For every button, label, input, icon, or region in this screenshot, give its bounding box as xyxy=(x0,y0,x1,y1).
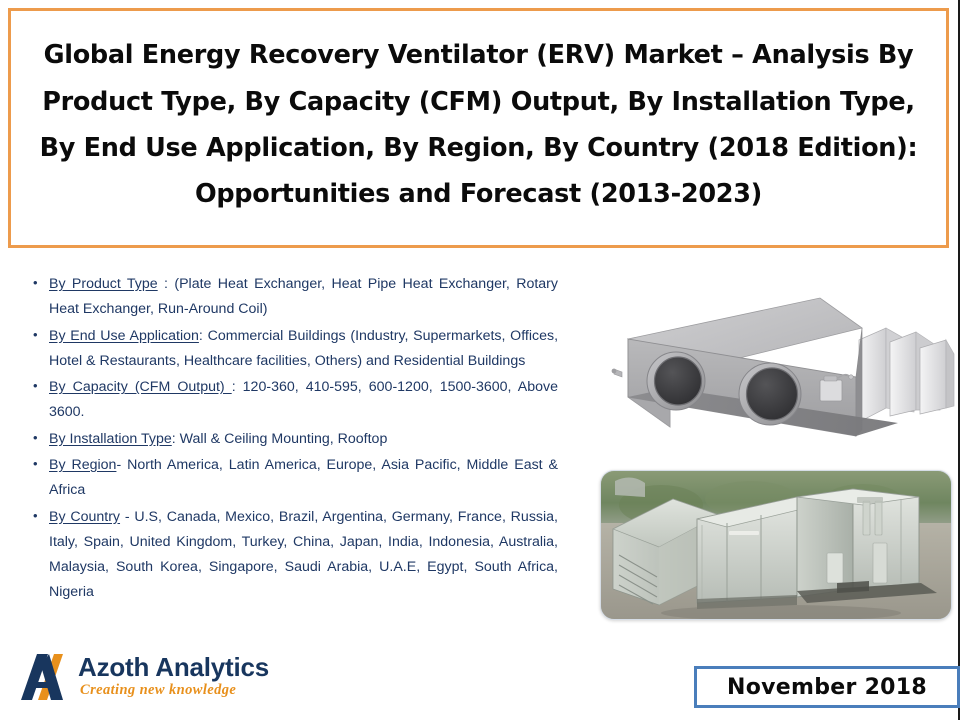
publication-date: November 2018 xyxy=(727,675,927,700)
azoth-a-mark-icon xyxy=(18,652,74,702)
brand-name: Azoth Analytics xyxy=(78,652,269,683)
segmentation-list: By Product Type : (Plate Heat Exchanger,… xyxy=(30,272,558,607)
segment-label: By Region xyxy=(49,457,116,473)
segment-value: Wall & Ceiling Mounting, Rooftop xyxy=(180,431,388,447)
list-item: By Region- North America, Latin America,… xyxy=(30,453,558,504)
segment-separator: : xyxy=(232,379,243,395)
product-images xyxy=(592,262,960,662)
ceiling-mounted-erv-unit-image xyxy=(598,284,956,462)
segment-bullets: By Product Type : (Plate Heat Exchanger,… xyxy=(30,272,558,606)
list-item: By Country - U.S, Canada, Mexico, Brazil… xyxy=(30,505,558,606)
brand-tagline: Creating new knowledge xyxy=(80,682,236,699)
segment-separator: : xyxy=(158,276,175,292)
list-item: By Installation Type: Wall & Ceiling Mou… xyxy=(30,427,558,452)
page-title: Global Energy Recovery Ventilator (ERV) … xyxy=(37,32,920,218)
segment-separator: - xyxy=(120,509,134,525)
list-item: By Capacity (CFM Output) : 120-360, 410-… xyxy=(30,375,558,426)
segment-label: By Capacity (CFM Output) xyxy=(49,379,232,395)
segment-label: By Installation Type xyxy=(49,431,172,447)
report-body: By Product Type : (Plate Heat Exchanger,… xyxy=(0,262,960,662)
segment-label: By End Use Application xyxy=(49,328,199,344)
segment-separator: - xyxy=(116,457,127,473)
segment-label: By Country xyxy=(49,509,120,525)
report-cover-page: Global Energy Recovery Ventilator (ERV) … xyxy=(0,0,960,720)
segment-separator: : xyxy=(199,328,208,344)
rooftop-air-handling-unit-photo xyxy=(600,470,952,620)
list-item: By Product Type : (Plate Heat Exchanger,… xyxy=(30,272,558,323)
list-item: By End Use Application: Commercial Build… xyxy=(30,324,558,375)
brand-logo: Azoth Analytics Creating new knowledge xyxy=(16,648,316,710)
report-title-box: Global Energy Recovery Ventilator (ERV) … xyxy=(8,8,949,248)
segment-label: By Product Type xyxy=(49,276,158,292)
publication-date-badge: November 2018 xyxy=(694,666,960,708)
segment-separator: : xyxy=(172,431,180,447)
